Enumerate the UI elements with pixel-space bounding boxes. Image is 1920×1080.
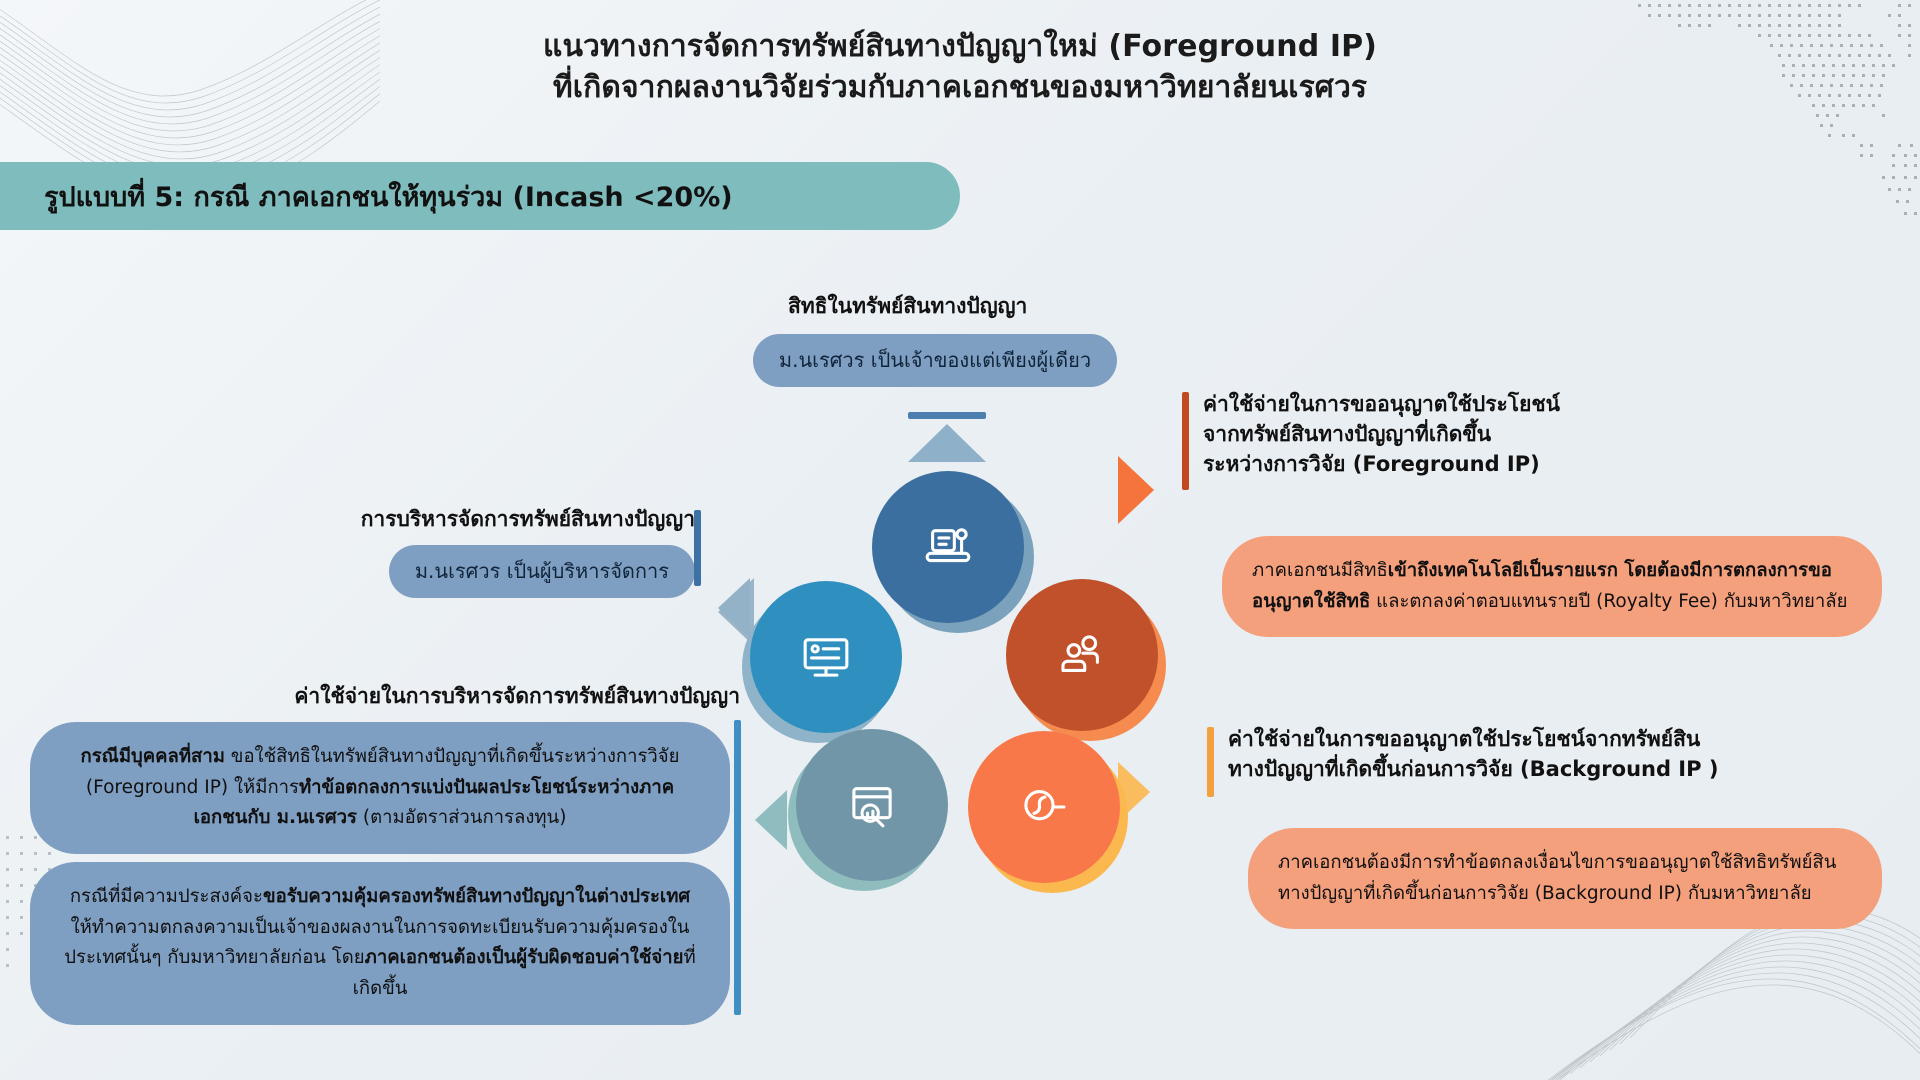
right-detail-box-2: ภาคเอกชนต้องมีการทำข้อตกลงเงื่อนไขการขออ… bbox=[1248, 828, 1882, 929]
icon-circle-cluster bbox=[700, 455, 1200, 855]
circle-presentation[interactable] bbox=[872, 471, 1024, 623]
circle-browser-search[interactable] bbox=[796, 729, 948, 881]
ip-rights-group: สิทธิในทรัพย์สินทางปัญญา ม.นเรศวร เป็นเจ… bbox=[700, 292, 1170, 387]
clock-search-icon bbox=[1015, 778, 1073, 836]
foreground-ip-cost-heading-wrap: ค่าใช้จ่ายในการขออนุญาตใช้ประโยชน์จากทรั… bbox=[1203, 390, 1823, 479]
browser-search-icon bbox=[843, 776, 901, 834]
banner-label: รูปแบบที่ 5: กรณี ภาคเอกชนให้ทุนร่วม (In… bbox=[44, 175, 733, 218]
circle-clock-search[interactable] bbox=[968, 731, 1120, 883]
circle-people[interactable] bbox=[1006, 579, 1158, 731]
right-detail-box-2-text: ภาคเอกชนต้องมีการทำข้อตกลงเงื่อนไขการขออ… bbox=[1248, 828, 1882, 929]
page-title: แนวทางการจัดการทรัพย์สินทางปัญญาใหม่ (Fo… bbox=[0, 26, 1920, 109]
presentation-board-icon bbox=[919, 518, 977, 576]
left-detail-box-1-text: กรณีมีบุคคลที่สาม ขอใช้สิทธิในทรัพย์สินท… bbox=[30, 722, 730, 854]
title-line-1: แนวทางการจัดการทรัพย์สินทางปัญญาใหม่ (Fo… bbox=[0, 26, 1920, 67]
circle-monitor-record[interactable] bbox=[750, 581, 902, 733]
left-detail-box-2-text: กรณีที่มีความประสงค์จะขอรับความคุ้มครองท… bbox=[30, 862, 730, 1025]
left-detail-box-1: กรณีมีบุคคลที่สาม ขอใช้สิทธิในทรัพย์สินท… bbox=[30, 722, 730, 854]
background-ip-cost-heading-wrap: ค่าใช้จ่ายในการขออนุญาตใช้ประโยชน์จากทรั… bbox=[1228, 725, 1868, 785]
foreground-ip-cost-heading: ค่าใช้จ่ายในการขออนุญาตใช้ประโยชน์จากทรั… bbox=[1203, 390, 1823, 479]
title-line-2: ที่เกิดจากผลงานวิจัยร่วมกับภาคเอกชนของมห… bbox=[0, 67, 1920, 108]
left-detail-box-2: กรณีที่มีความประสงค์จะขอรับความคุ้มครองท… bbox=[30, 862, 730, 1025]
right-detail-box-1-text: ภาคเอกชนมีสิทธิเข้าถึงเทคโนโลยีเป็นรายแร… bbox=[1222, 536, 1882, 637]
ip-management-group: การบริหารจัดการทรัพย์สินทางปัญญา ม.นเรศว… bbox=[245, 505, 695, 598]
background-ip-cost-heading: ค่าใช้จ่ายในการขออนุญาตใช้ประโยชน์จากทรั… bbox=[1228, 725, 1868, 785]
right-detail-box-1: ภาคเอกชนมีสิทธิเข้าถึงเทคโนโลยีเป็นรายแร… bbox=[1222, 536, 1882, 637]
section-banner: รูปแบบที่ 5: กรณี ภาคเอกชนให้ทุนร่วม (In… bbox=[0, 162, 960, 230]
infographic-slide: แนวทางการจัดการทรัพย์สินทางปัญญาใหม่ (Fo… bbox=[0, 0, 1920, 1080]
monitor-id-card-icon bbox=[797, 628, 855, 686]
ip-management-cost-heading-wrap: ค่าใช้จ่ายในการบริหารจัดการทรัพย์สินทางป… bbox=[170, 682, 740, 712]
ip-management-heading: การบริหารจัดการทรัพย์สินทางปัญญา bbox=[245, 505, 695, 535]
cluster-left-triangle bbox=[718, 578, 750, 638]
top-connector-bar bbox=[908, 412, 986, 419]
two-people-icon bbox=[1053, 626, 1111, 684]
ip-rights-heading: สิทธิในทรัพย์สินทางปัญญา bbox=[700, 292, 1170, 322]
ip-management-cost-heading: ค่าใช้จ่ายในการบริหารจัดการทรัพย์สินทางป… bbox=[170, 682, 740, 712]
ip-management-pill: ม.นเรศวร เป็นผู้บริหารจัดการ bbox=[389, 545, 695, 598]
right-accent-bar-2 bbox=[1207, 727, 1214, 797]
ip-rights-pill: ม.นเรศวร เป็นเจ้าของแต่เพียงผู้เดียว bbox=[753, 334, 1117, 387]
